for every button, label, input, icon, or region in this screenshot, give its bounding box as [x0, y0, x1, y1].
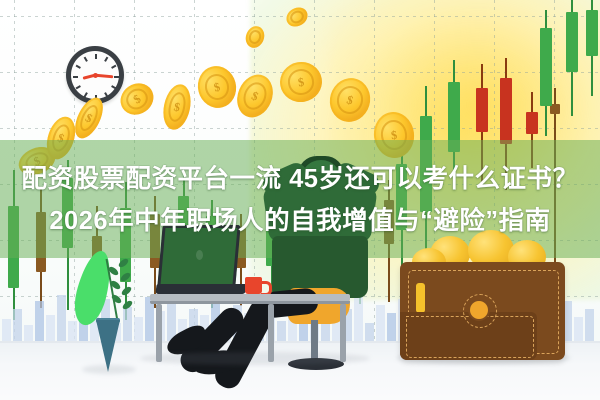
desk-leg — [156, 304, 162, 362]
coin-icon: $ — [115, 77, 160, 121]
coin-icon: $ — [325, 73, 376, 126]
laptop-camera-dot — [196, 250, 203, 260]
coin-icon: $ — [231, 69, 279, 123]
coin-icon — [283, 4, 311, 31]
plant-vase — [96, 320, 120, 372]
laptop-base — [155, 284, 246, 294]
banner-image: $ $ $ $ $ $ $ $ $ $ — [0, 0, 600, 400]
desk-leg — [268, 304, 274, 362]
wallet-card — [416, 283, 425, 313]
coin-icon: $ — [69, 93, 108, 142]
coffee-mug — [245, 277, 262, 294]
coin-icon: $ — [277, 59, 325, 106]
wallet-snap-button — [470, 301, 488, 319]
coin-icon: $ — [160, 82, 195, 132]
desk-top — [150, 294, 350, 301]
coin-icon — [243, 24, 267, 51]
desk-leg — [340, 304, 346, 362]
